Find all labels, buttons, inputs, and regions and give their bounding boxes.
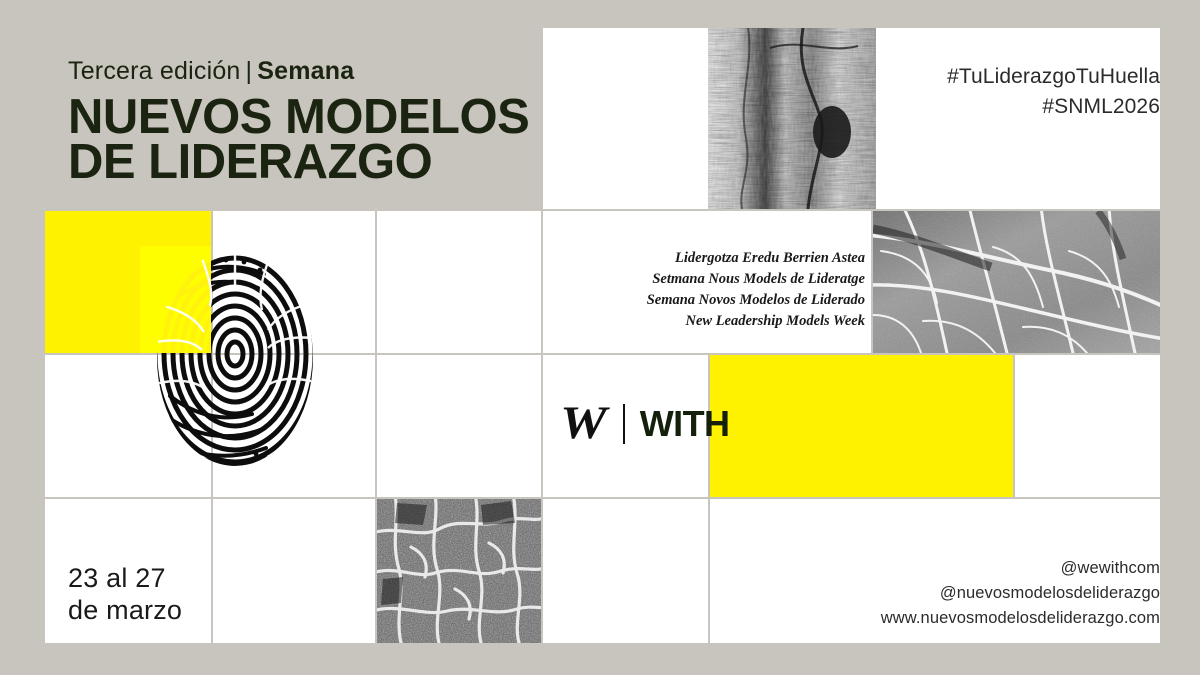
kicker-semana: Semana (257, 57, 354, 85)
grid-cell-r3c2 (213, 355, 375, 497)
kicker-edition: Tercera edición (68, 57, 241, 85)
w-monogram-icon: W (560, 400, 606, 447)
logo-wordmark: WITH (640, 406, 730, 442)
footer-links: @wewithcom @nuevosmodelosdeliderazgo www… (881, 556, 1160, 630)
with-logo: W WITH (560, 400, 729, 447)
stone-texture-image (377, 499, 541, 643)
lang-line-eu: Lidergotza Eredu Berrien Astea (543, 248, 865, 269)
link-instagram-event[interactable]: @nuevosmodelosdeliderazgo (881, 581, 1160, 606)
title-line-2: DE LIDERAZGO (68, 140, 538, 186)
headline-block: Tercera edición|Semana NUEVOS MODELOS DE… (68, 58, 538, 218)
grid-cell-r3c3 (377, 355, 541, 497)
link-website[interactable]: www.nuevosmodelosdeliderazgo.com (881, 606, 1160, 631)
lang-line-ca: Setmana Nous Models de Lideratge (543, 269, 865, 290)
grid-cell-r2c2 (213, 211, 375, 353)
grid-cell-r4c2 (213, 499, 375, 643)
grid-cell-r3c1 (45, 355, 211, 497)
link-instagram-brand[interactable]: @wewithcom (881, 556, 1160, 581)
bark-texture-image (708, 28, 876, 209)
language-titles-block: Lidergotza Eredu Berrien Astea Setmana N… (543, 248, 865, 333)
hashtag-secondary: #SNML2026 (947, 92, 1160, 122)
dates-line-1: 23 al 27 (68, 562, 182, 594)
poster-canvas: Tercera edición|Semana NUEVOS MODELOS DE… (0, 0, 1200, 675)
hashtag-block: #TuLiderazgoTuHuella #SNML2026 (947, 62, 1160, 122)
grid-cell-r4c4 (543, 499, 708, 643)
kicker-line: Tercera edición|Semana (68, 58, 538, 86)
kicker-separator: | (241, 57, 258, 85)
grid-cell-r3c6 (1015, 355, 1160, 497)
leaf-vein-texture-image (873, 211, 1160, 353)
yellow-block-right (710, 355, 1013, 497)
event-dates: 23 al 27 de marzo (68, 562, 182, 627)
page-title: NUEVOS MODELOS DE LIDERAZGO (68, 95, 538, 186)
dates-line-2: de marzo (68, 594, 182, 626)
grid-cell-r2c3 (377, 211, 541, 353)
hashtag-primary: #TuLiderazgoTuHuella (947, 62, 1160, 92)
logo-divider (623, 404, 625, 444)
lang-line-en: New Leadership Models Week (543, 311, 865, 332)
yellow-block-left (45, 211, 211, 353)
lang-line-gl: Semana Novos Modelos de Liderado (543, 290, 865, 311)
